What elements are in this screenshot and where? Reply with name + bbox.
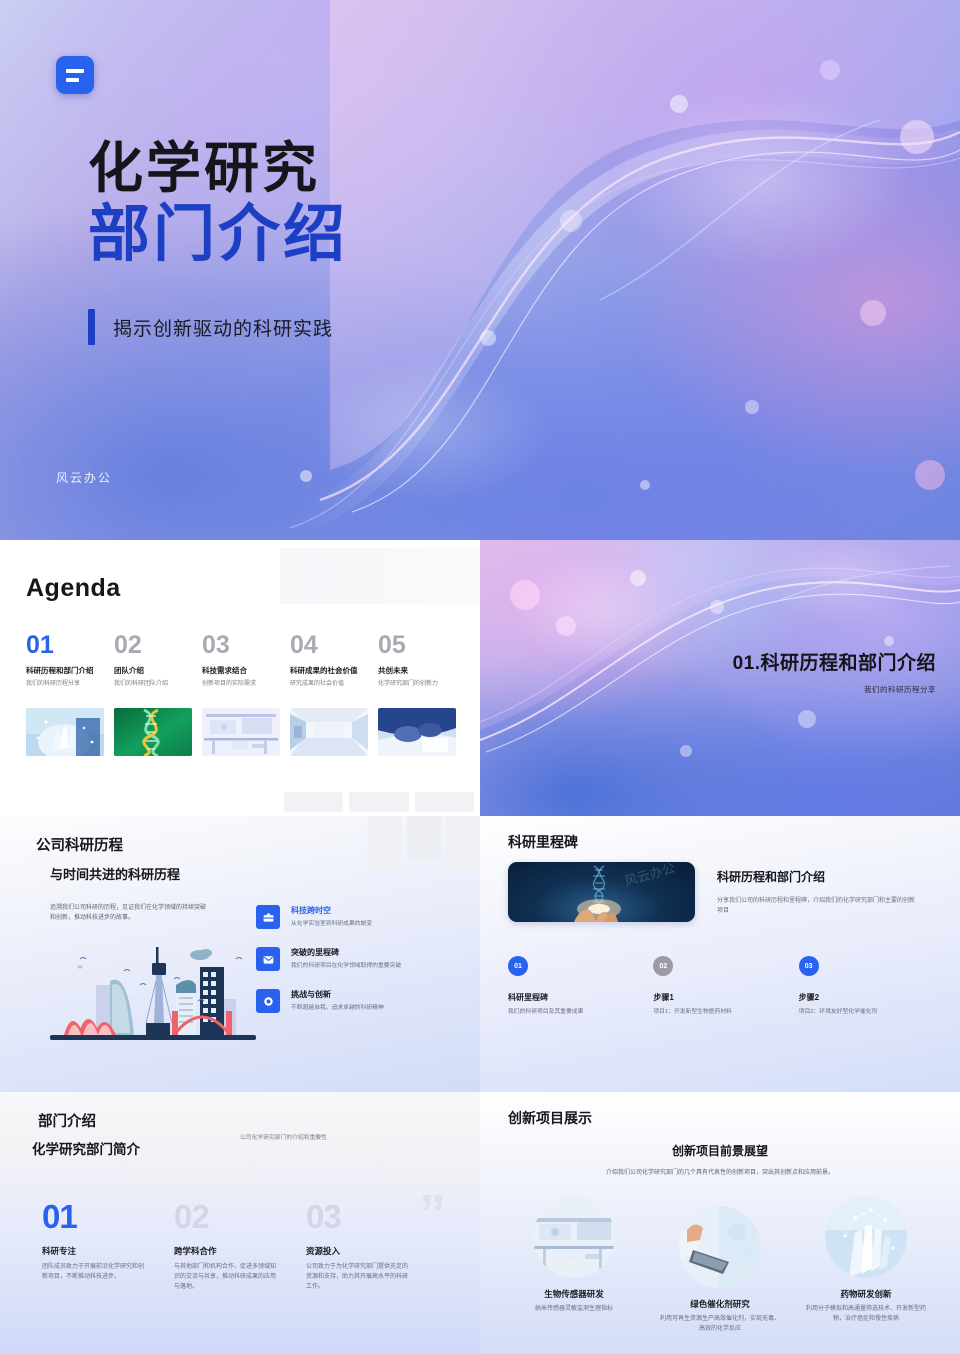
robotic-hand-photo bbox=[26, 708, 104, 756]
page-subtitle: 揭示创新驱动的科研实践 bbox=[113, 314, 333, 341]
innovation-card-desc: 利用可再生资源生产高效催化剂，实现无毒、高效的化学反应 bbox=[660, 1315, 780, 1334]
agenda-item-04[interactable]: 04 科研成果的社会价值 研究成果的社会价值 bbox=[290, 633, 368, 756]
clean-corridor-photo bbox=[290, 708, 368, 756]
document-logo-icon[interactable] bbox=[56, 56, 94, 94]
inbox-icon bbox=[256, 947, 280, 971]
section-cover-text: 01.科研历程和部门介绍 我们的科研历程分享 bbox=[733, 648, 936, 695]
innovation-card-3[interactable]: 药物研发创新 利用分子模拟和高通量筛选技术、开发新型药物，治疗癌症和慢性疾病 bbox=[806, 1196, 926, 1334]
department-columns: 01 科研专注 团队成员致力于开展前沿化学研究和创新项目，不断推动科技进步。 0… bbox=[0, 1160, 480, 1293]
step-desc: 项目2：环境友好型化学催化剂 bbox=[799, 1008, 944, 1017]
slide-department-intro: 部门介绍 化学研究部门简介 公司化学研究部门的介绍和重要性 01 科研专注 团队… bbox=[0, 1092, 480, 1354]
timeline-item-1[interactable]: 科技跨时空 从化学实验室到科研成果的蜕变 bbox=[256, 905, 466, 929]
slide-innovation-projects: 创新项目展示 创新项目前景展望 介绍我们公司化学研究部门的几个具有代表性的创新项… bbox=[480, 1092, 960, 1354]
step-title: 步骤2 bbox=[799, 992, 944, 1003]
department-note: 公司化学研究部门的介绍和重要性 bbox=[240, 1132, 327, 1141]
department-heading: 部门介绍 bbox=[38, 1110, 480, 1131]
department-subheading: 化学研究部门简介 bbox=[32, 1138, 480, 1158]
decorative-block-row bbox=[284, 792, 474, 812]
agenda-title: 共创未来 bbox=[378, 666, 456, 676]
milestone-right-title: 科研历程和部门介绍 bbox=[717, 868, 917, 885]
innovation-cards: 生物传感器研发 纳米传感器灵敏监测生理指标 bbox=[480, 1196, 960, 1334]
milestone-heading: 科研里程碑 bbox=[508, 832, 960, 852]
step-title: 科研里程碑 bbox=[508, 992, 653, 1003]
column-desc: 团队成员致力于开展前沿化学研究和创新项目，不断推动科技进步。 bbox=[42, 1263, 146, 1283]
dna-in-hand-photo: 风云办公 bbox=[508, 862, 695, 922]
column-title: 资源投入 bbox=[306, 1245, 438, 1257]
column-title: 跨学科合作 bbox=[174, 1245, 306, 1257]
agenda-number: 05 bbox=[378, 633, 456, 658]
agenda-number: 02 bbox=[114, 633, 192, 658]
agenda-desc: 研究成果的社会价值 bbox=[290, 680, 368, 698]
agenda-desc: 我们的科研团队介绍 bbox=[114, 680, 192, 698]
milestone-step-03[interactable]: 03 步骤2 项目2：环境友好型化学催化剂 bbox=[799, 956, 944, 1017]
city-skyline-illustration bbox=[50, 941, 256, 1047]
column-desc: 公司致力于为化学研究部门提供充足的资源和支持，助力其开展高水平的科研工作。 bbox=[306, 1263, 410, 1293]
innovation-card-1[interactable]: 生物传感器研发 纳米传感器灵敏监测生理指标 bbox=[514, 1196, 634, 1334]
slide-research-milestone: 科研里程碑 bbox=[480, 816, 960, 1092]
target-icon bbox=[256, 989, 280, 1013]
svg-text:风云办公: 风云办公 bbox=[623, 862, 677, 889]
agenda-number: 01 bbox=[26, 633, 104, 658]
timeline-item-title: 科技跨时空 bbox=[291, 905, 372, 916]
agenda-number: 04 bbox=[290, 633, 368, 658]
agenda-desc: 化学研究部门的创新力 bbox=[378, 680, 456, 698]
innovation-subblock: 创新项目前景展望 介绍我们公司化学研究部门的几个具有代表性的创新项目，突出其创新… bbox=[480, 1142, 960, 1176]
timeline-right: 科技跨时空 从化学实验室到科研成果的蜕变 突破的里程碑 我们的科研项目在化学领域… bbox=[256, 903, 480, 1047]
timeline-item-title: 挑战与创新 bbox=[291, 989, 384, 1000]
decorative-blocks bbox=[368, 816, 480, 872]
column-title: 科研专注 bbox=[42, 1245, 174, 1257]
department-header: 部门介绍 化学研究部门简介 bbox=[0, 1092, 480, 1160]
milestone-right-desc: 分享我们公司的科研历程和里程碑，介绍我们的化学研究部门和主要的创新项目 bbox=[717, 897, 917, 916]
agenda-desc: 我们的科研历程分享 bbox=[26, 680, 104, 698]
milestone-top: 风云办公 科研历程和部门介绍 分享我们公司的科研历程和里程碑，介绍我们的化学研究… bbox=[480, 862, 960, 922]
laboratory-bench-photo bbox=[202, 708, 280, 756]
section-title: 01.科研历程和部门介绍 bbox=[733, 648, 936, 675]
agenda-item-03[interactable]: 03 科技需求结合 创新项目的实际需求 bbox=[202, 633, 280, 756]
presentation-deck: 化学研究 部门介绍 揭示创新驱动的科研实践 风云办公 Agenda 01 科研历… bbox=[0, 0, 960, 1352]
dna-helix-photo bbox=[114, 708, 192, 756]
step-number-badge: 02 bbox=[653, 956, 673, 976]
timeline-item-3[interactable]: 挑战与创新 不断超越自我，追求卓越的科研精神 bbox=[256, 989, 466, 1013]
timeline-item-2[interactable]: 突破的里程碑 我们的科研项目在化学领域取得的重要突破 bbox=[256, 947, 466, 971]
slide-section-cover: 01.科研历程和部门介绍 我们的科研历程分享 bbox=[480, 540, 960, 816]
scientist-tablet-photo bbox=[679, 1206, 761, 1288]
innovation-card-title: 药物研发创新 bbox=[806, 1288, 926, 1300]
agenda-item-02[interactable]: 02 团队介绍 我们的科研团队介绍 bbox=[114, 633, 192, 756]
step-desc: 项目1：开发新型生物医药材料 bbox=[653, 1008, 798, 1017]
innovation-card-title: 生物传感器研发 bbox=[514, 1288, 634, 1300]
step-number-badge: 03 bbox=[799, 956, 819, 976]
step-desc: 我们的科研项目及其重要成果 bbox=[508, 1008, 653, 1017]
accent-bar bbox=[88, 309, 95, 345]
page-title-line1: 化学研究 bbox=[88, 140, 348, 198]
innovation-card-desc: 纳米传感器灵敏监测生理指标 bbox=[514, 1305, 634, 1315]
molecular-hand-photo bbox=[825, 1196, 907, 1278]
timeline-left: 追溯我们公司科研的历程，见证我们在化学领域的持续突破和创新，推动科技进步的故事。 bbox=[0, 903, 256, 1047]
agenda-item-05[interactable]: 05 共创未来 化学研究部门的创新力 bbox=[378, 633, 456, 756]
timeline-item-desc: 不断超越自我，追求卓越的科研精神 bbox=[291, 1004, 384, 1013]
milestone-step-01[interactable]: 01 科研里程碑 我们的科研项目及其重要成果 bbox=[508, 956, 653, 1017]
milestone-step-02[interactable]: 02 步骤1 项目1：开发新型生物医药材料 bbox=[653, 956, 798, 1017]
timeline-item-desc: 从化学实验室到科研成果的蜕变 bbox=[291, 920, 372, 929]
timeline-item-desc: 我们的科研项目在化学领域取得的重要突破 bbox=[291, 962, 401, 971]
department-column-02[interactable]: 02 跨学科合作 与其他部门和机构合作，促进多领域知识的交流与共享，推动科研成果… bbox=[174, 1200, 306, 1293]
agenda-desc: 创新项目的实际需求 bbox=[202, 680, 280, 698]
briefcase-icon bbox=[256, 905, 280, 929]
teamwork-hands-photo bbox=[378, 708, 456, 756]
agenda-number: 03 bbox=[202, 633, 280, 658]
innovation-heading: 创新项目展示 bbox=[508, 1108, 960, 1128]
timeline-paragraph: 追溯我们公司科研的历程，见证我们在化学领域的持续突破和创新，推动科技进步的故事。 bbox=[50, 903, 210, 923]
agenda-items: 01 科研历程和部门介绍 我们的科研历程分享 bbox=[26, 633, 454, 756]
agenda-title: 团队介绍 bbox=[114, 666, 192, 676]
section-subtitle: 我们的科研历程分享 bbox=[733, 684, 936, 695]
agenda-item-01[interactable]: 01 科研历程和部门介绍 我们的科研历程分享 bbox=[26, 633, 104, 756]
slide-research-timeline: 公司科研历程 与时间共进的科研历程 追溯我们公司科研的历程，见证我们在化学领域的… bbox=[0, 816, 480, 1092]
column-number: 02 bbox=[174, 1200, 306, 1233]
milestone-right: 科研历程和部门介绍 分享我们公司的科研历程和里程碑，介绍我们的化学研究部门和主要… bbox=[717, 862, 917, 922]
innovation-card-desc: 利用分子模拟和高通量筛选技术、开发新型药物，治疗癌症和慢性疾病 bbox=[806, 1305, 926, 1324]
subtitle-row: 揭示创新驱动的科研实践 bbox=[88, 309, 348, 345]
timeline-body: 追溯我们公司科研的历程，见证我们在化学领域的持续突破和创新，推动科技进步的故事。 bbox=[0, 903, 480, 1047]
innovation-card-title: 绿色催化剂研究 bbox=[660, 1298, 780, 1310]
innovation-card-2[interactable]: 绿色催化剂研究 利用可再生资源生产高效催化剂，实现无毒、高效的化学反应 bbox=[660, 1206, 780, 1334]
column-desc: 与其他部门和机构合作，促进多领域知识的交流与共享，推动科研成果的应用与落地。 bbox=[174, 1263, 278, 1293]
slide-title-cover: 化学研究 部门介绍 揭示创新驱动的科研实践 风云办公 bbox=[0, 0, 960, 540]
innovation-sub-title: 创新项目前景展望 bbox=[480, 1142, 960, 1159]
agenda-title: 科研历程和部门介绍 bbox=[26, 666, 104, 676]
title-block: 化学研究 部门介绍 揭示创新驱动的科研实践 bbox=[88, 140, 348, 345]
column-number: 01 bbox=[42, 1200, 174, 1233]
slide-agenda: Agenda 01 科研历程和部门介绍 我们的科研历程分享 bbox=[0, 540, 480, 816]
department-column-01[interactable]: 01 科研专注 团队成员致力于开展前沿化学研究和创新项目，不断推动科技进步。 bbox=[42, 1200, 174, 1293]
innovation-sub-desc: 介绍我们公司化学研究部门的几个具有代表性的创新项目，突出其创新点和应用前景。 bbox=[480, 1167, 960, 1176]
page-title-line2: 部门介绍 bbox=[88, 200, 348, 269]
timeline-item-title: 突破的里程碑 bbox=[291, 947, 401, 958]
agenda-title: 科研成果的社会价值 bbox=[290, 666, 368, 676]
brand-footer: 风云办公 bbox=[56, 469, 112, 486]
lab-equipment-photo bbox=[533, 1196, 615, 1278]
step-number-badge: 01 bbox=[508, 956, 528, 976]
agenda-title: 科技需求结合 bbox=[202, 666, 280, 676]
step-title: 步骤1 bbox=[653, 992, 798, 1003]
quote-mark-icon: ” bbox=[419, 1196, 444, 1234]
decorative-block bbox=[280, 548, 480, 604]
milestone-steps: 01 科研里程碑 我们的科研项目及其重要成果 02 步骤1 项目1：开发新型生物… bbox=[480, 956, 960, 1017]
